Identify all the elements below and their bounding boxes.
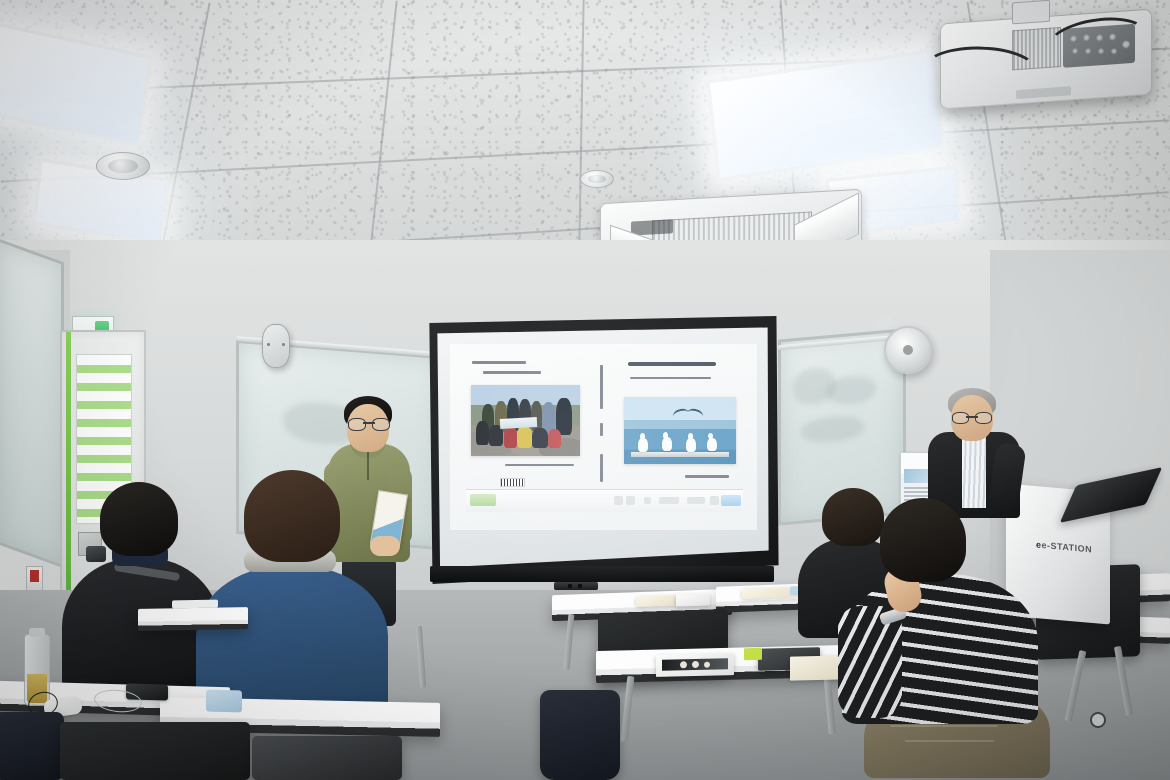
book-spine [592, 356, 612, 495]
ac-vent [631, 219, 673, 235]
seagulls-sea-photo [624, 397, 736, 464]
wall-speaker [262, 324, 290, 368]
toolbar-tab[interactable] [470, 494, 496, 506]
backpack[interactable] [540, 690, 620, 780]
back-cover [462, 353, 589, 498]
chair-front-left-2[interactable] [252, 736, 402, 780]
tablet[interactable] [206, 689, 242, 712]
lecturer-glasses-icon [952, 412, 992, 423]
striped-head [880, 498, 966, 582]
striped-arm [838, 606, 902, 718]
toolbar-field[interactable] [687, 497, 705, 504]
handout-papers[interactable] [636, 595, 678, 606]
wall-fan-icon [884, 326, 932, 374]
classroom-scene: ee-STATION [0, 0, 1170, 780]
toolbar-field[interactable] [659, 497, 679, 504]
open-book[interactable] [656, 653, 734, 677]
chair-caster [1090, 712, 1106, 728]
group-summit-photo [471, 385, 580, 456]
student-striped [838, 498, 1058, 780]
blue-sweater-head [244, 470, 340, 562]
screen-roller [554, 582, 598, 590]
desk-rear-left [138, 607, 248, 631]
chair-front-left[interactable] [60, 722, 250, 780]
projected-slide [450, 344, 757, 530]
projection-screen [424, 316, 780, 584]
ceiling-speaker-left [96, 152, 150, 180]
toolbar-icon-button[interactable] [626, 496, 635, 505]
lecturer-shirt [962, 434, 986, 508]
slide-app-toolbar[interactable] [466, 489, 743, 512]
front-cover [615, 353, 745, 498]
ceiling-speaker-rear [580, 170, 614, 188]
toolbar-icon-button[interactable] [644, 497, 651, 504]
screen-weight-bar [430, 566, 774, 582]
ceiling-projector [940, 9, 1152, 110]
presenter-glasses-icon [348, 418, 390, 430]
isbn-barcode [500, 478, 525, 487]
flying-gull-icon [673, 409, 703, 418]
toolbar-icon-button[interactable] [710, 496, 719, 505]
bottle-cap [29, 628, 45, 637]
student-blue-sweater [196, 470, 394, 720]
backpack-left[interactable] [0, 712, 64, 780]
toolbar-icon-button[interactable] [614, 496, 623, 505]
toolbar-primary-button[interactable] [721, 495, 741, 506]
sticky-note[interactable] [744, 648, 762, 660]
book-cover-spread [462, 353, 744, 498]
open-book[interactable] [676, 593, 710, 606]
whiteboard-left [0, 238, 64, 569]
black-jacket-head [100, 482, 178, 556]
screen-canvas [434, 326, 771, 570]
handout-papers[interactable] [172, 600, 218, 609]
projector-mount [1012, 0, 1050, 24]
